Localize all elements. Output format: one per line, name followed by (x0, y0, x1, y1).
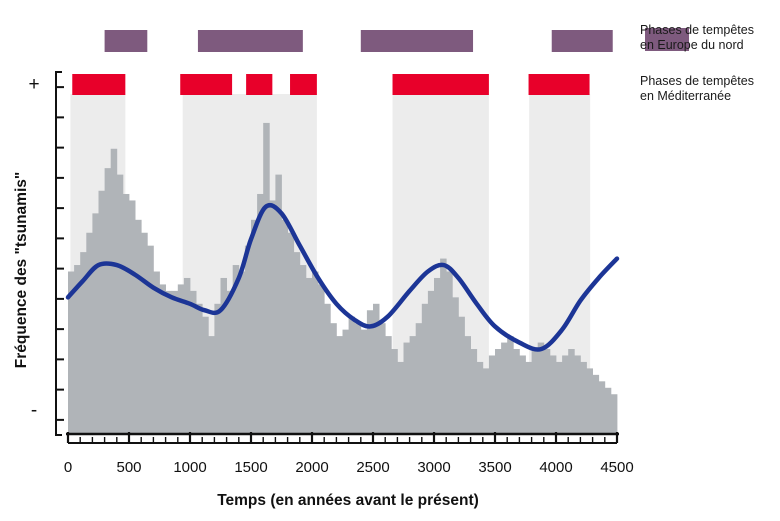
histogram-bar (160, 284, 167, 433)
x-axis-tick-label: 3000 (417, 459, 450, 476)
histogram-bar (166, 291, 173, 433)
histogram-bar (489, 355, 496, 433)
histogram-bar (117, 175, 124, 433)
legend-label-mediterranean-line2: en Méditerranée (640, 89, 731, 103)
phase-bar-north-europe (105, 30, 148, 52)
histogram-bar (99, 191, 106, 433)
histogram-bar (135, 220, 142, 433)
phase-bar-mediterranean (72, 74, 125, 95)
phase-bar-mediterranean (180, 74, 232, 95)
x-axis-tick-label: 4500 (600, 459, 633, 476)
phase-bar-mediterranean (246, 74, 272, 95)
histogram-bar (471, 349, 478, 433)
histogram-bar (343, 330, 350, 433)
x-axis-tick-label: 1500 (234, 459, 267, 476)
histogram-bar (434, 278, 441, 433)
histogram-bar (178, 284, 185, 433)
histogram-bar (483, 368, 490, 433)
histogram-bar (172, 291, 179, 433)
histogram-bar (379, 323, 386, 433)
histogram-bar (605, 388, 612, 433)
histogram-bar (208, 336, 215, 433)
histogram-bar (446, 272, 453, 434)
histogram-bar (532, 349, 539, 433)
histogram-bar (318, 284, 325, 433)
histogram-bar (288, 233, 295, 433)
legend-label-mediterranean-line1: Phases de tempêtes (640, 74, 754, 88)
x-axis-tick-label: 3500 (478, 459, 511, 476)
histogram-bar (397, 362, 404, 433)
histogram-bar (282, 220, 289, 433)
histogram-bar (153, 272, 160, 434)
histogram-bar (550, 355, 557, 433)
histogram-bar (428, 291, 435, 433)
histogram-bar (477, 362, 484, 433)
x-axis-tick-label: 4000 (539, 459, 572, 476)
histogram-bar (562, 355, 569, 433)
histogram-bar (330, 323, 337, 433)
histogram-bar (129, 200, 136, 433)
phase-bar-north-europe (198, 30, 303, 52)
histogram-bar (495, 349, 502, 433)
histogram-bar (574, 355, 581, 433)
histogram-bar (556, 362, 563, 433)
y-axis-title: Fréquence des "tsunamis" (13, 172, 30, 368)
histogram-bar (245, 246, 252, 433)
x-axis-tick-label: 500 (116, 459, 141, 476)
histogram-bar (123, 194, 129, 433)
histogram-bar (519, 355, 526, 433)
histogram-bar (501, 343, 508, 433)
histogram-bar (300, 265, 307, 433)
histogram-bar (416, 323, 423, 433)
histogram-bar (294, 252, 301, 433)
histogram-bar (306, 278, 313, 433)
y-axis-minus-label: - (31, 400, 37, 421)
phase-bar-mediterranean (393, 74, 489, 95)
histogram-bar (86, 233, 93, 433)
histogram-bar (336, 336, 343, 433)
histogram-bar (105, 168, 112, 433)
histogram-bar (385, 336, 392, 433)
histogram-bar (239, 272, 246, 434)
legend-label-north-europe-line2: en Europe du nord (640, 38, 744, 52)
histogram-bar (269, 200, 276, 433)
histogram-bar (440, 259, 447, 433)
x-axis-tick-label: 2500 (356, 459, 389, 476)
histogram-bar (410, 336, 417, 433)
x-axis-tick-label: 2000 (295, 459, 328, 476)
legend-label-north-europe-line1: Phases de tempêtes (640, 23, 754, 37)
histogram-bar (465, 336, 472, 433)
histogram-bar (422, 304, 429, 433)
histogram-bar (580, 362, 587, 433)
histogram-bar (111, 149, 118, 433)
histogram-bar (513, 349, 520, 433)
histogram-bar (349, 317, 356, 433)
histogram-bar (263, 123, 270, 433)
y-axis-plus-label: + (28, 74, 39, 95)
x-axis-tick-label: 0 (64, 459, 72, 476)
phase-bar-mediterranean (529, 74, 590, 95)
histogram-bar (312, 272, 319, 434)
histogram-bar (526, 362, 533, 433)
histogram-bar (361, 330, 368, 433)
histogram-bar (324, 304, 331, 433)
histogram-bar (611, 394, 618, 433)
tsunami-frequency-chart: 050010001500200025003000350040004500 + -… (0, 0, 780, 521)
phase-bar-north-europe (552, 30, 613, 52)
histogram-bar (190, 291, 197, 433)
histogram-bar (227, 291, 234, 433)
histogram-bar (593, 375, 600, 433)
histogram-bar (196, 304, 203, 433)
histogram-bar (538, 343, 545, 433)
histogram-bar (599, 381, 606, 433)
histogram-bar (458, 317, 465, 433)
histogram-bar (92, 213, 99, 433)
histogram-bar (257, 194, 264, 433)
chart-figure: 050010001500200025003000350040004500 + -… (0, 0, 780, 521)
histogram-bar (251, 220, 258, 433)
histogram-bar (452, 297, 459, 433)
histogram-bar (507, 336, 514, 433)
histogram-bar (404, 343, 411, 433)
histogram-bar (147, 246, 154, 433)
histogram-bar (391, 349, 398, 433)
histogram-bar (355, 323, 362, 433)
x-axis-tick-label: 1000 (173, 459, 206, 476)
phase-bar-north-europe (361, 30, 473, 52)
histogram-bar (141, 233, 148, 433)
histogram-bar (214, 304, 221, 433)
x-axis-title: Temps (en années avant le présent) (217, 492, 479, 509)
histogram-bar (587, 368, 594, 433)
histogram-bar (568, 349, 575, 433)
histogram-bar (202, 317, 209, 433)
histogram-bar (544, 349, 551, 433)
phase-bar-mediterranean (290, 74, 317, 95)
